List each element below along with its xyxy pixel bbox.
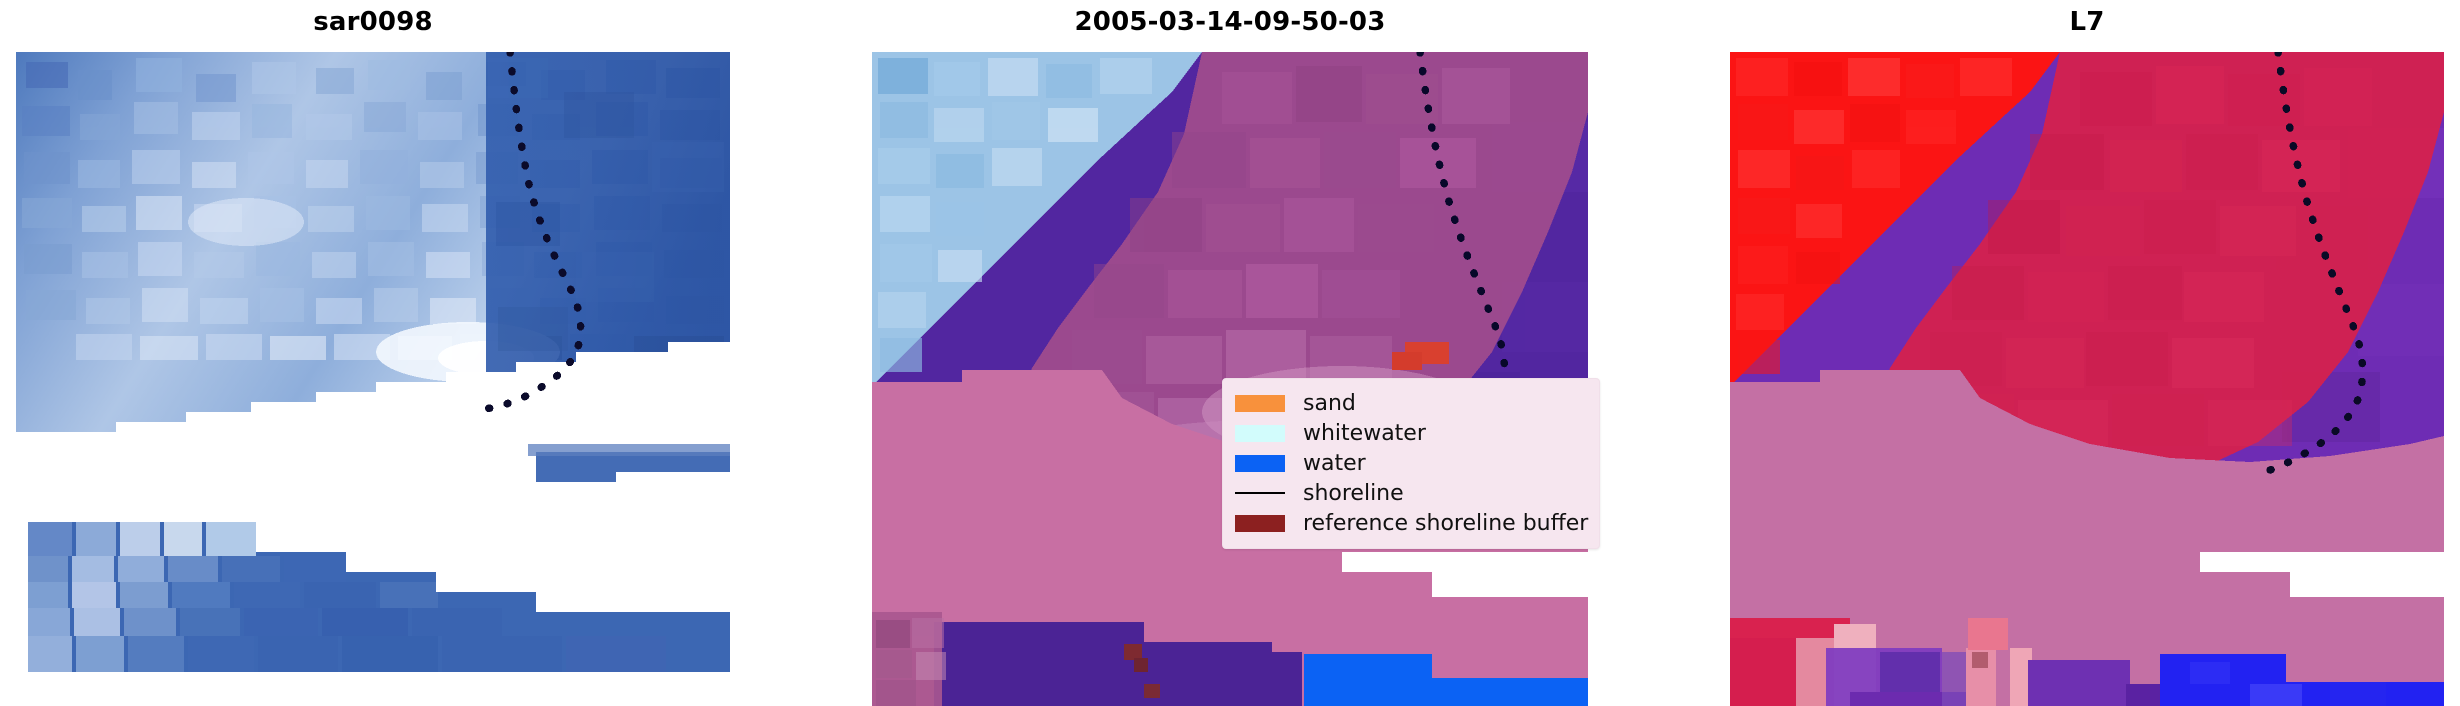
legend-label-shoreline: shoreline [1303, 481, 1404, 506]
figure-root: sar0098 [0, 0, 2460, 706]
panel-title-sar: sar0098 [16, 6, 730, 38]
reference-buffer-swatch-icon [1235, 515, 1285, 532]
legend-item-shoreline: shoreline [1235, 478, 1587, 508]
legend-label-water: water [1303, 451, 1366, 476]
sand-swatch-icon [1235, 395, 1285, 412]
whitewater-swatch-icon [1235, 425, 1285, 442]
shoreline-line-icon [1235, 492, 1285, 494]
legend-item-sand: sand [1235, 388, 1587, 418]
panel-canvas-sar [16, 52, 730, 706]
panel-title-l7: L7 [1730, 6, 2444, 38]
water-swatch-icon [1235, 455, 1285, 472]
legend-label-reference-buffer: reference shoreline buffer [1303, 511, 1588, 536]
panel-rgb-classification: 2005-03-14-09-50-03 [872, 0, 1588, 706]
legend-item-water: water [1235, 448, 1587, 478]
legend-label-whitewater: whitewater [1303, 421, 1426, 446]
panel-title-date: 2005-03-14-09-50-03 [872, 6, 1588, 38]
legend-item-reference-buffer: reference shoreline buffer [1235, 508, 1587, 538]
legend-item-whitewater: whitewater [1235, 418, 1587, 448]
panel-canvas-l7 [1730, 52, 2444, 706]
panel-l7: L7 [1730, 0, 2444, 706]
panel-sar0098: sar0098 [16, 0, 730, 706]
legend-label-sand: sand [1303, 391, 1356, 416]
legend-box: sand whitewater water shoreline referenc… [1222, 378, 1600, 549]
